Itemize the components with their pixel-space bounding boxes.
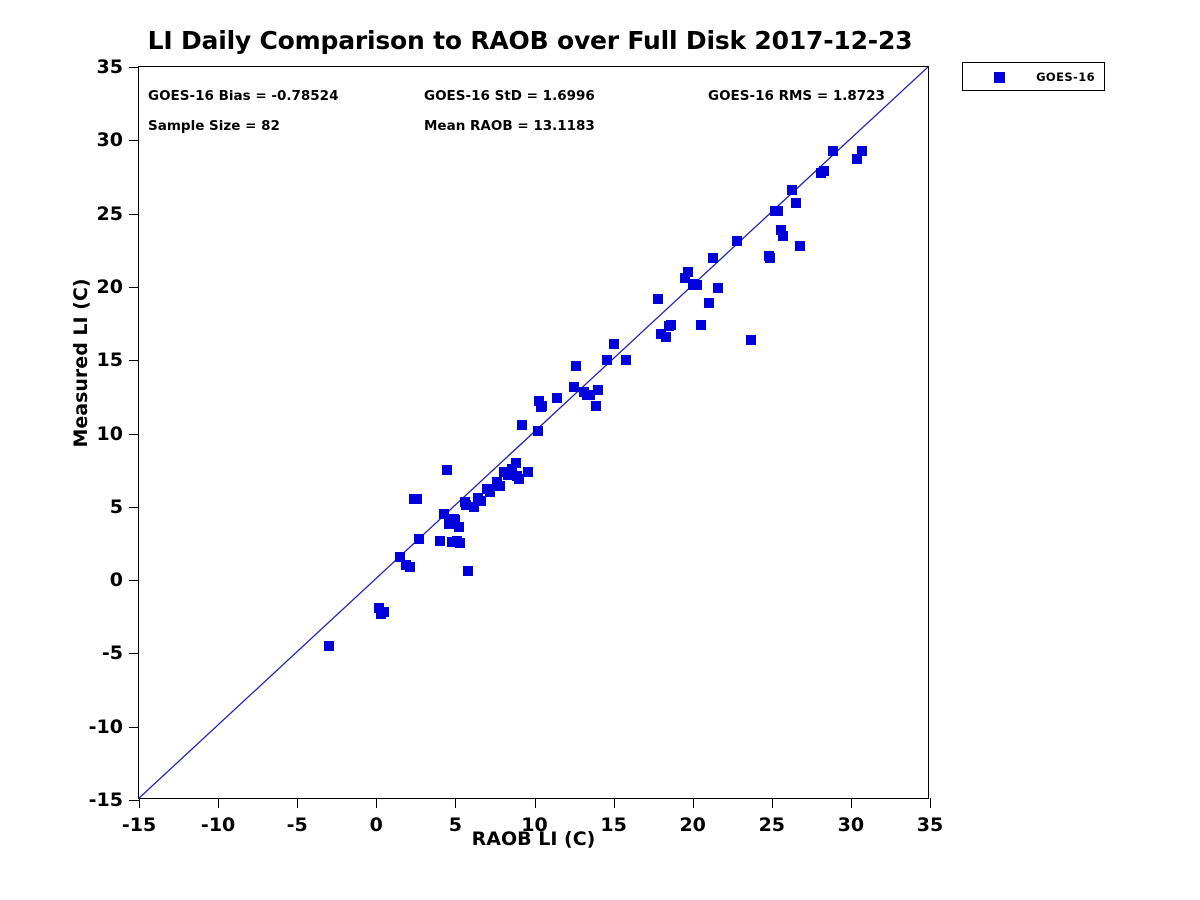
scatter-point <box>593 385 603 395</box>
scatter-point <box>609 339 619 349</box>
scatter-point <box>537 401 547 411</box>
scatter-point <box>653 294 663 304</box>
scatter-point <box>661 332 671 342</box>
scatter-point <box>787 185 797 195</box>
x-tick <box>930 798 931 808</box>
x-tick <box>772 798 773 808</box>
scatter-point <box>778 231 788 241</box>
x-tick <box>376 798 377 808</box>
y-tick <box>129 434 139 435</box>
scatter-point <box>666 320 676 330</box>
legend-marker-goes-16 <box>994 72 1005 83</box>
legend-label-goes-16: GOES-16 <box>1036 70 1095 84</box>
scatter-point <box>819 166 829 176</box>
scatter-point <box>379 607 389 617</box>
y-tick <box>129 140 139 141</box>
x-tick <box>218 798 219 808</box>
scatter-point <box>511 458 521 468</box>
y-tick-label: -15 <box>89 789 123 811</box>
scatter-point <box>591 401 601 411</box>
scatter-point <box>514 474 524 484</box>
scatter-point <box>523 467 533 477</box>
y-tick <box>129 287 139 288</box>
scatter-point <box>405 562 415 572</box>
scatter-point <box>455 538 465 548</box>
scatter-point <box>552 393 562 403</box>
scatter-point <box>713 283 723 293</box>
x-tick <box>693 798 694 808</box>
scatter-point <box>476 496 486 506</box>
legend: GOES-16 <box>962 62 1105 91</box>
y-tick <box>129 580 139 581</box>
scatter-point <box>517 420 527 430</box>
x-axis-label: RAOB LI (C) <box>138 828 929 850</box>
scatter-point <box>324 641 334 651</box>
y-tick <box>129 653 139 654</box>
plot-inner <box>139 67 928 798</box>
scatter-point <box>683 267 693 277</box>
y-tick-label: 0 <box>110 569 123 591</box>
scatter-point <box>828 146 838 156</box>
y-tick <box>129 800 139 801</box>
page-title: LI Daily Comparison to RAOB over Full Di… <box>0 26 1060 55</box>
y-tick-label: -10 <box>89 716 123 738</box>
scatter-point <box>791 198 801 208</box>
scatter-point <box>454 522 464 532</box>
scatter-point <box>732 236 742 246</box>
scatter-point <box>412 494 422 504</box>
scatter-point <box>692 280 702 290</box>
scatter-point <box>414 534 424 544</box>
scatter-point <box>442 465 452 475</box>
x-tick <box>851 798 852 808</box>
chart-figure: LI Daily Comparison to RAOB over Full Di… <box>0 0 1200 900</box>
scatter-point <box>533 426 543 436</box>
scatter-point <box>495 481 505 491</box>
scatter-point <box>621 355 631 365</box>
scatter-point <box>463 566 473 576</box>
scatter-point <box>704 298 714 308</box>
y-tick <box>129 507 139 508</box>
x-tick <box>455 798 456 808</box>
scatter-point <box>857 146 867 156</box>
scatter-point <box>439 509 449 519</box>
y-tick-label: 35 <box>97 56 123 78</box>
x-tick <box>297 798 298 808</box>
y-tick-label: 20 <box>97 276 123 298</box>
y-tick-label: -5 <box>102 642 123 664</box>
x-tick <box>139 798 140 808</box>
x-tick <box>535 798 536 808</box>
y-tick-label: 15 <box>97 349 123 371</box>
y-tick <box>129 727 139 728</box>
scatter-point <box>746 335 756 345</box>
scatter-point <box>765 253 775 263</box>
scatter-point <box>602 355 612 365</box>
scatter-point <box>773 206 783 216</box>
scatter-point <box>795 241 805 251</box>
y-axis-label: Measured LI (C) <box>70 263 92 463</box>
y-tick-label: 30 <box>97 129 123 151</box>
y-tick-label: 25 <box>97 203 123 225</box>
plot-area: -15-10-505101520253035 -15-10-5051015202… <box>138 66 929 799</box>
scatter-point <box>696 320 706 330</box>
scatter-point <box>435 536 445 546</box>
y-tick <box>129 214 139 215</box>
x-tick <box>614 798 615 808</box>
y-tick-label: 5 <box>110 496 123 518</box>
y-tick-label: 10 <box>97 423 123 445</box>
scatter-point <box>571 361 581 371</box>
y-tick <box>129 360 139 361</box>
scatter-point <box>852 154 862 164</box>
scatter-point <box>708 253 718 263</box>
y-tick <box>129 67 139 68</box>
